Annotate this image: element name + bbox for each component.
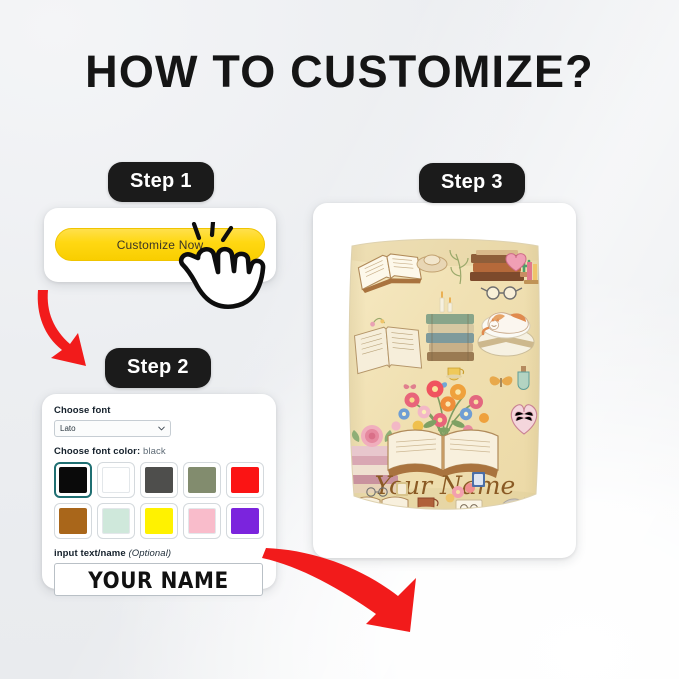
- bookshelf-icon: [524, 261, 550, 284]
- step-1-badge: Step 1: [108, 162, 214, 202]
- color-swatch-dark-gray[interactable]: [140, 462, 178, 498]
- color-chip: [59, 467, 87, 493]
- customize-now-label: Customize Now: [117, 238, 204, 252]
- input-text-name-label-text: input text/name: [54, 548, 126, 559]
- color-swatch-red[interactable]: [226, 462, 264, 498]
- blanket-personalized-name: Your Name: [375, 471, 516, 500]
- color-swatch-brown[interactable]: [54, 503, 92, 539]
- color-chip: [231, 467, 259, 493]
- color-chip: [188, 467, 216, 493]
- color-chip: [102, 467, 130, 493]
- stamp-icon: [396, 482, 408, 496]
- color-chip: [59, 508, 87, 534]
- choose-font-color-label: Choose font color: black: [54, 446, 264, 457]
- choose-font-label: Choose font: [54, 405, 264, 416]
- step-3-badge: Step 3: [419, 163, 525, 203]
- color-chip: [188, 508, 216, 534]
- color-swatch-black[interactable]: [54, 462, 92, 498]
- font-select[interactable]: Lato: [54, 420, 171, 437]
- page-title: HOW TO CUSTOMIZE?: [0, 46, 679, 98]
- sleeping-cat-icon: [478, 313, 534, 356]
- step-1-card: Customize Now: [44, 208, 276, 282]
- color-swatch-pink[interactable]: [183, 503, 221, 539]
- name-input-value: YOUR NAME: [88, 566, 229, 593]
- input-text-name-label: input text/name (Optional): [54, 548, 264, 559]
- name-input-field[interactable]: YOUR NAME: [54, 563, 263, 596]
- color-swatch-purple[interactable]: [226, 503, 264, 539]
- color-chip: [145, 467, 173, 493]
- color-swatch-mint[interactable]: [97, 503, 135, 539]
- page-background: HOW TO CUSTOMIZE? Step 1 Customize Now S…: [0, 0, 679, 679]
- step-2-card: Choose font Lato Choose font color: blac…: [42, 394, 276, 589]
- chevron-down-icon: [158, 425, 165, 432]
- color-chip: [231, 508, 259, 534]
- flower-icon: [432, 510, 444, 522]
- font-select-value: Lato: [60, 424, 76, 433]
- stamp-icon: [472, 472, 485, 487]
- step-3-card: Your Name: [313, 203, 576, 558]
- choose-font-color-prefix: Choose font color:: [54, 446, 140, 457]
- blanket-preview: Your Name: [340, 232, 550, 530]
- color-swatch-white[interactable]: [97, 462, 135, 498]
- color-chip: [145, 508, 173, 534]
- customize-now-button[interactable]: Customize Now: [55, 228, 265, 261]
- input-text-name-optional: (Optional): [128, 548, 171, 559]
- step-2-badge: Step 2: [105, 348, 211, 388]
- blanket-product-image: Your Name: [340, 232, 550, 530]
- font-color-swatch-grid: [54, 462, 264, 539]
- color-chip: [102, 508, 130, 534]
- choose-font-color-value: black: [143, 446, 166, 457]
- color-swatch-yellow[interactable]: [140, 503, 178, 539]
- color-swatch-sage-green[interactable]: [183, 462, 221, 498]
